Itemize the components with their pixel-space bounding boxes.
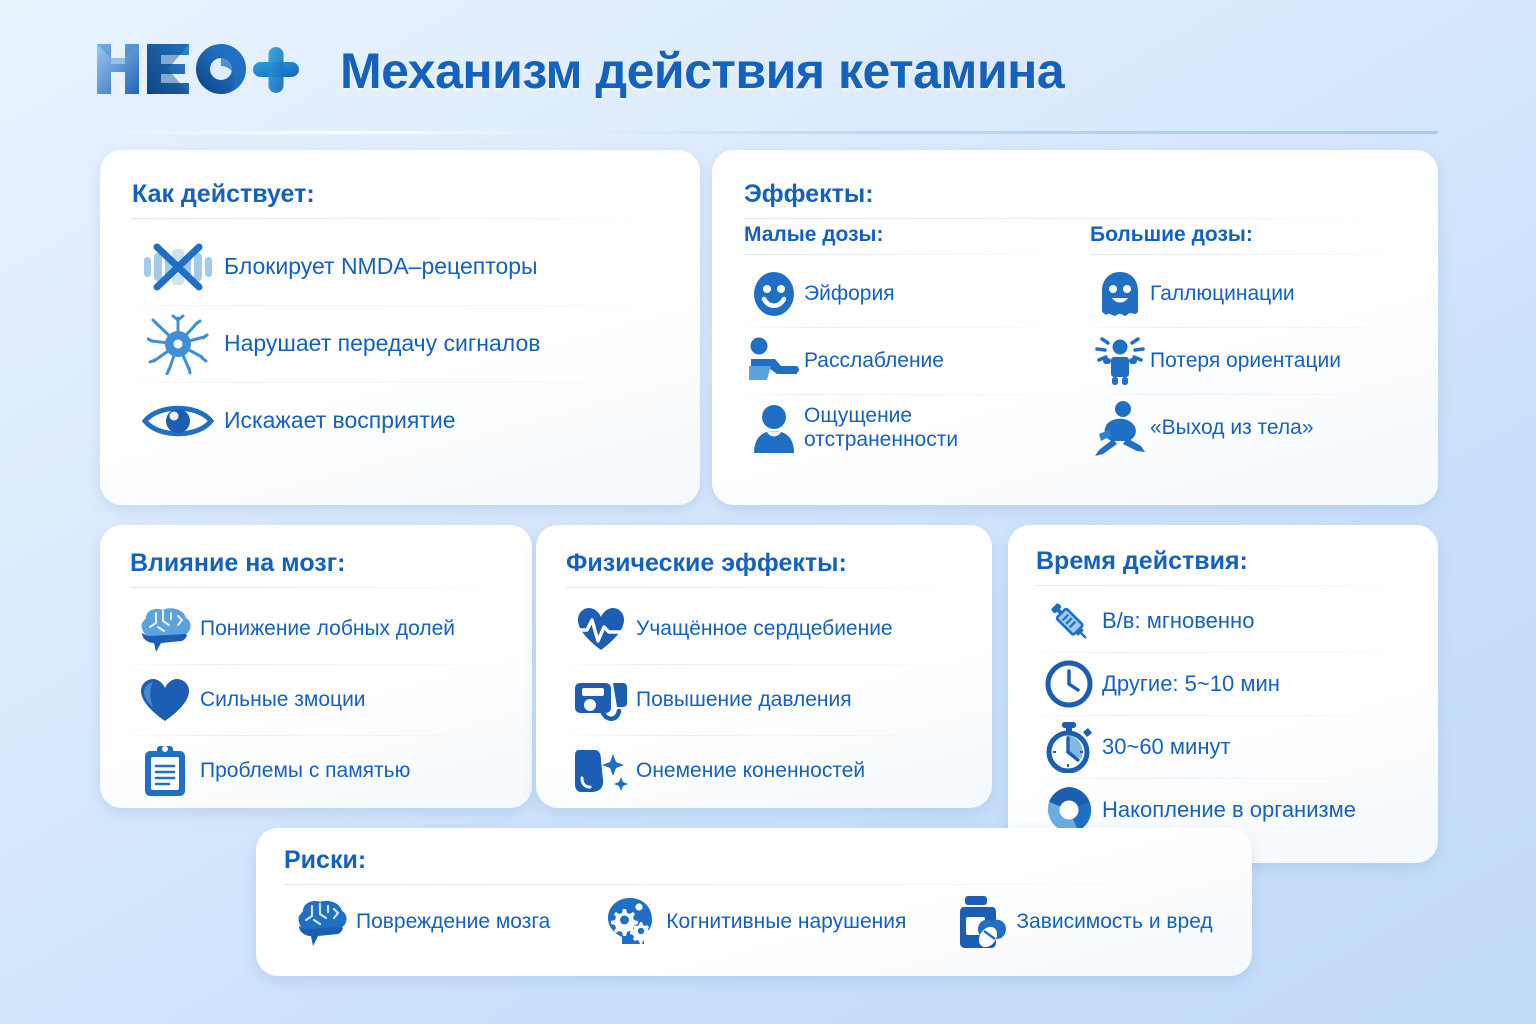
card-title-risks: Риски: [284,846,1224,884]
list-item-label: Потеря ориентации [1150,349,1341,373]
card-title-effects: Эффекты: [744,180,1406,218]
list-item-label: Онемение коненностей [636,759,865,783]
pill-bottle-icon [944,895,1016,949]
brain-icon [130,605,200,653]
list-item-label: В/в: мгновенно [1102,609,1254,634]
list-item: Другие: 5~10 мин [1036,653,1410,715]
card-how-it-works: Как действует: [100,150,700,505]
brain-damage-icon [284,897,356,947]
list-item-label: 30~60 минут [1102,735,1231,760]
list-item-label: Зависимость и вред [1016,910,1212,934]
list-item: Повреждение мозга [284,897,550,947]
list-item-label: Эйфория [804,282,895,306]
card-brain-impact: Влияние на мозг: Понижение лобных долей [100,525,532,808]
divider [744,254,1060,255]
card-risks: Риски: Повреждение мозга [256,828,1252,976]
list-item: Повышение давления [566,665,962,735]
list-item-label: Сильные змоции [200,688,366,712]
dizzy-person-icon [1090,337,1150,385]
eye-icon [132,400,224,442]
list-item: Ощущение отстраненности [744,395,1060,461]
list-item-label: Понижение лобных долей [200,617,455,641]
foot-tingling-icon [566,746,636,796]
list-item: Зависимость и вред [944,895,1212,949]
neuron-icon [132,313,224,375]
page-title: Механизм действия кетамина [340,42,1064,100]
list-item-label: Ощущение отстраненности [804,404,1060,451]
clipboard-icon [130,744,200,798]
neo-plus-logo [95,38,300,100]
divider [566,587,962,588]
infographic-canvas: Механизм действия кетамина Как действует… [0,0,1536,1024]
card-title-time: Время действия: [1036,547,1410,585]
list-item: Онемение коненностей [566,736,962,806]
list-item: Нарушает передачу сигналов [132,306,668,382]
list-item-label: Расслабление [804,349,944,373]
list-item: Когнитивные нарушения [594,896,906,948]
list-item: Учащённое сердцебиение [566,594,962,664]
head-gears-icon [594,896,666,948]
divider [284,884,1224,885]
list-item-label: Другие: 5~10 мин [1102,672,1280,697]
heart-pulse-icon [566,605,636,653]
list-item: Искажает восприятие [132,383,668,459]
subtitle-high-doses: Большие дозы: [1090,223,1406,254]
list-item-label: Учащённое сердцебиение [636,617,893,641]
card-effects: Эффекты: Малые дозы: Эйфория [712,150,1438,505]
card-physical-effects: Физические эффекты: Учащённое сердцебиен… [536,525,992,808]
floating-body-icon [1090,400,1150,456]
list-item-label: Проблемы с памятью [200,759,410,783]
divider [744,218,1406,219]
list-item: В/в: мгновенно [1036,590,1410,652]
blood-pressure-monitor-icon [566,675,636,725]
list-item: Галлюцинации [1090,261,1406,327]
person-silhouette-icon [744,403,804,453]
effects-column-low-doses: Малые дозы: Эйфория [744,223,1060,461]
card-title-how: Как действует: [132,180,668,218]
list-item-label: Когнитивные нарушения [666,910,906,934]
reclining-person-icon [744,336,804,386]
list-item-label: Повреждение мозга [356,910,550,934]
blocked-receptor-icon [132,241,224,293]
list-item-label: Нарушает передачу сигналов [224,331,540,357]
list-item-label: Повышение давления [636,688,852,712]
divider [1090,254,1406,255]
list-item-label: Блокирует NMDA–рецепторы [224,254,538,280]
list-item-label: Накопление в организме [1102,798,1356,823]
smiley-face-icon [744,270,804,318]
stopwatch-icon [1036,721,1102,773]
list-item: 30~60 минут [1036,716,1410,778]
list-item-label: Галлюцинации [1150,282,1295,306]
card-duration: Время действия: [1008,525,1438,863]
card-title-brain: Влияние на мозг: [130,549,502,587]
list-item: Понижение лобных долей [130,594,502,664]
subtitle-low-doses: Малые дозы: [744,223,1060,254]
list-item: Сильные змоции [130,665,502,735]
header-divider [98,131,1438,134]
list-item: Проблемы с памятью [130,736,502,806]
clock-icon [1036,660,1102,708]
list-item: Потеря ориентации [1090,328,1406,394]
donut-chart-icon [1036,786,1102,834]
divider [1036,585,1410,586]
effects-column-high-doses: Большие дозы: Галлюцинации [1090,223,1406,461]
ghost-icon [1090,270,1150,318]
divider [132,218,668,219]
list-item: Блокирует NMDA–рецепторы [132,229,668,305]
list-item: Расслабление [744,328,1060,394]
divider [130,587,502,588]
list-item-label: «Выход из тела» [1150,416,1314,440]
list-item: «Выход из тела» [1090,395,1406,461]
heart-icon [130,677,200,723]
list-item-label: Искажает восприятие [224,408,456,434]
card-title-physical: Физические эффекты: [566,549,962,587]
list-item: Эйфория [744,261,1060,327]
syringe-icon [1036,596,1102,646]
